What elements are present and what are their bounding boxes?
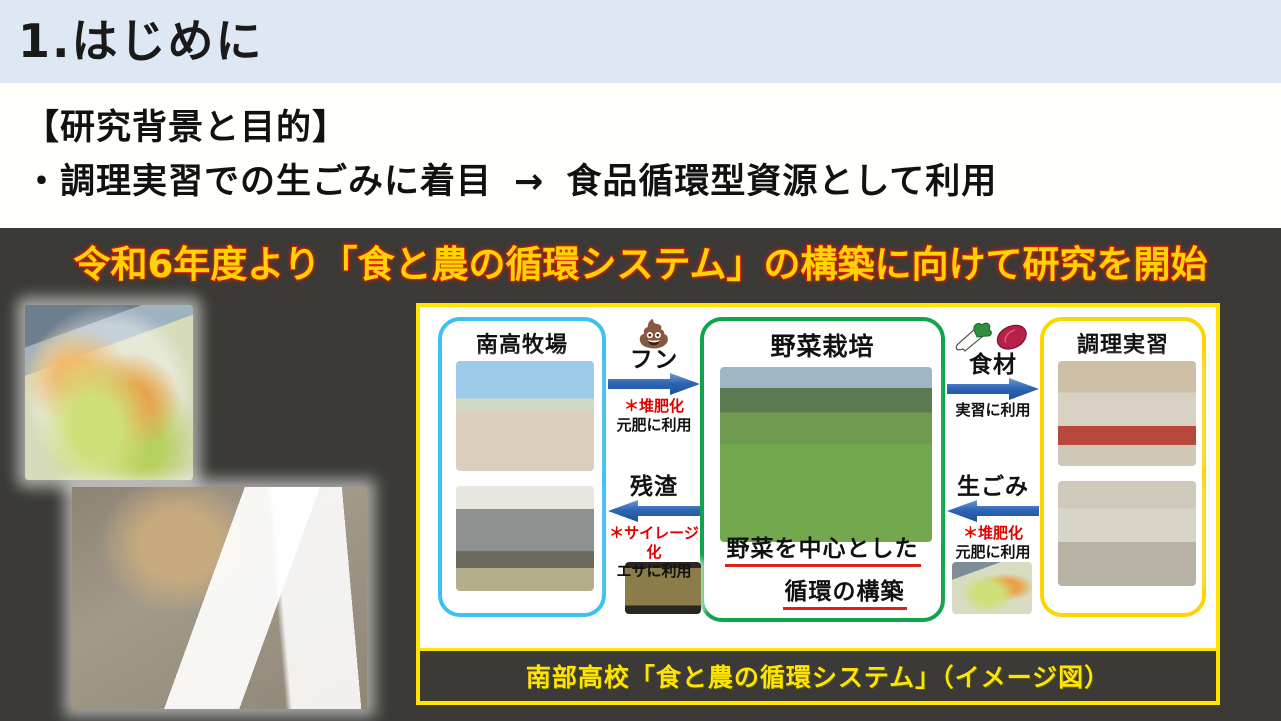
photo-cows-barn xyxy=(456,486,594,591)
arrow-left-icon xyxy=(608,500,700,522)
flow-zansa: 残渣 ＊サイレージ化 エサに利用 xyxy=(606,475,702,580)
diagram-footer: 南部高校「食と農の循環システム」（イメージ図） xyxy=(420,648,1216,701)
center-caption-line1: 野菜を中心とした xyxy=(725,529,921,567)
highlight-banner: 令和6年度より「食と農の循環システム」の構築に向けて研究を開始 xyxy=(0,234,1281,288)
photo-vegetable-field xyxy=(720,367,932,542)
arrow-right-icon xyxy=(947,378,1039,400)
diagram-footer-text: 南部高校「食と農の循環システム」（イメージ図） xyxy=(526,658,1110,694)
diagram-box-cultivation-title: 野菜栽培 xyxy=(704,327,941,363)
slide: 1.はじめに 【研究背景と目的】 ・調理実習での生ごみに着目→食品循環型資源とし… xyxy=(0,0,1281,721)
photo-cows-pasture xyxy=(456,361,594,471)
flow-shokuzai: 食材 実習に利用 xyxy=(945,321,1041,419)
photo-cooking-class-2 xyxy=(1058,481,1196,586)
flow-fun-note-black: 元肥に利用 xyxy=(606,416,702,434)
intro-heading: 【研究背景と目的】 xyxy=(24,99,348,150)
cycle-diagram: 南高牧場 野菜栽培 野菜を中心とした 循環の構築 調理実習 xyxy=(416,303,1220,705)
flow-zansa-arrow xyxy=(606,500,702,522)
intro-bullet-text: ・調理実習での生ごみに着目 xyxy=(24,162,492,202)
flow-fun-note-red: ＊堆肥化 xyxy=(606,397,702,416)
intro-section: 【研究背景と目的】 ・調理実習での生ごみに着目→食品循環型資源として利用 xyxy=(0,83,1281,228)
diagram-box-cooking-title: 調理実習 xyxy=(1044,327,1202,359)
diagram-center-caption: 野菜を中心とした 循環の構築 xyxy=(704,529,941,610)
intro-bullet: ・調理実習での生ごみに着目→食品循環型資源として利用 xyxy=(24,153,997,204)
flow-fun-label: フン xyxy=(606,348,702,372)
flow-fun: 💩 フン ＊堆肥化 元肥に利用 xyxy=(606,321,702,434)
flow-fun-arrow xyxy=(606,373,702,395)
flow-namagomi-arrow xyxy=(945,500,1041,522)
flow-shokuzai-arrow xyxy=(945,378,1041,400)
diagram-box-cultivation: 野菜栽培 野菜を中心とした 循環の構築 xyxy=(700,317,945,622)
photo-labeling-bags xyxy=(72,487,367,709)
sweet-potato-icon xyxy=(997,325,1026,349)
arrow-right-icon: → xyxy=(514,162,544,202)
arrow-left-icon xyxy=(947,500,1039,522)
flow-zansa-note-black: エサに利用 xyxy=(606,562,702,580)
flow-namagomi-label: 生ごみ xyxy=(945,475,1041,499)
diagram-box-cooking: 調理実習 xyxy=(1040,317,1206,617)
center-caption-line2: 循環の構築 xyxy=(783,572,907,610)
flow-namagomi: 生ごみ ＊堆肥化 元肥に利用 xyxy=(945,475,1041,561)
arrow-right-icon xyxy=(608,373,700,395)
vegetables-icon xyxy=(945,321,1041,353)
flow-shokuzai-note-black: 実習に利用 xyxy=(945,401,1041,419)
flow-zansa-note-red: ＊サイレージ化 xyxy=(606,524,702,562)
photo-cooking-class-1 xyxy=(1058,361,1196,466)
poop-icon: 💩 xyxy=(606,321,702,348)
daikon-icon xyxy=(956,323,991,351)
intro-bullet-result: 食品循環型資源として利用 xyxy=(566,162,997,202)
page-title: 1.はじめに xyxy=(18,6,263,76)
flow-shokuzai-label: 食材 xyxy=(945,353,1041,377)
photo-compost-bag xyxy=(952,562,1032,614)
diagram-box-farm-title: 南高牧場 xyxy=(442,327,602,359)
photo-food-waste-bag xyxy=(25,305,193,480)
flow-namagomi-note-black: 元肥に利用 xyxy=(945,543,1041,561)
flow-zansa-label: 残渣 xyxy=(606,475,702,499)
flow-namagomi-note-red: ＊堆肥化 xyxy=(945,524,1041,543)
diagram-box-farm: 南高牧場 xyxy=(438,317,606,617)
